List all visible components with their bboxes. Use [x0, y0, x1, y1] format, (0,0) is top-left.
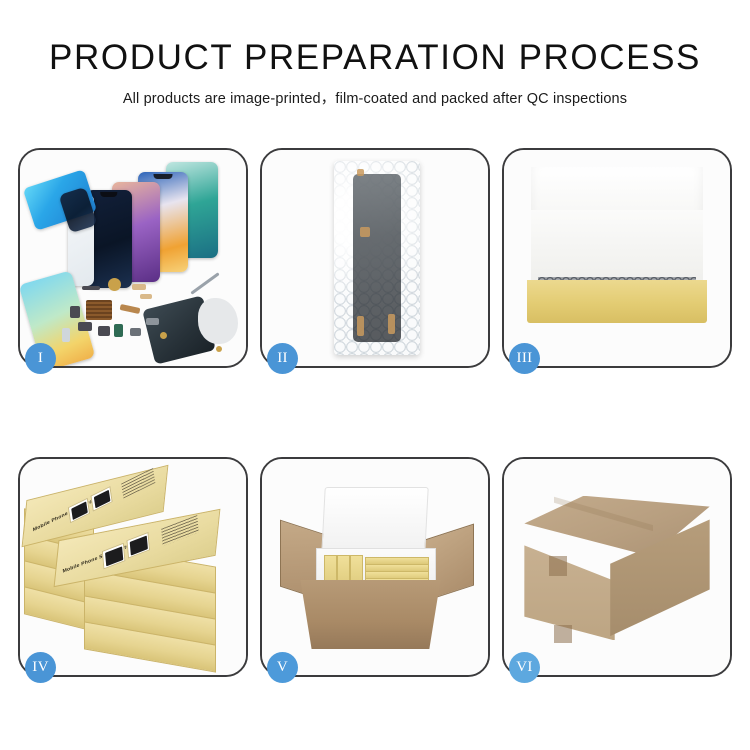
step-image-6	[504, 459, 730, 675]
foam-carton-scene	[262, 459, 488, 675]
part-flex-cable	[140, 294, 152, 299]
stacked-boxes-scene: Mobile Phone Spare Parts Mobile Phone Sp…	[20, 459, 246, 675]
step-badge-2: II	[267, 343, 298, 374]
box-window-image	[102, 543, 126, 570]
box-spec-lines	[121, 468, 155, 499]
step-image-1	[20, 150, 246, 366]
box-window-image	[90, 486, 112, 512]
box-label-text: Mobile Phone Spare Parts	[33, 495, 100, 533]
part-bracket	[70, 306, 80, 318]
part-ribbon	[120, 304, 141, 314]
phone-lineup-scene	[20, 150, 246, 366]
part-camera-ring	[108, 278, 121, 291]
box-lid-face	[531, 210, 703, 283]
part-chip	[78, 322, 92, 331]
box-window-image	[126, 532, 150, 559]
flex-cable-tab	[357, 169, 365, 177]
step-image-5	[262, 459, 488, 675]
step-badge-3: III	[509, 343, 540, 374]
part-speaker	[130, 328, 141, 336]
hand	[198, 298, 238, 344]
step-badge-4: IV	[25, 652, 56, 683]
notch-icon	[154, 174, 173, 179]
page-title: PRODUCT PREPARATION PROCESS	[0, 40, 750, 77]
inner-box-scene	[504, 150, 730, 366]
step-image-2	[262, 150, 488, 366]
bubble-wrap-bag	[334, 161, 420, 355]
flex-cable-tab	[388, 314, 396, 333]
step-badge-6: VI	[509, 652, 540, 683]
step-image-4: Mobile Phone Spare Parts Mobile Phone Sp…	[20, 459, 246, 675]
tweezers-icon	[190, 272, 219, 294]
step-panel-3[interactable]: III	[502, 148, 732, 368]
box-window-image	[68, 498, 90, 524]
part-module	[146, 318, 159, 325]
foam-lid	[321, 487, 428, 554]
part-chip	[98, 326, 110, 336]
page-header: PRODUCT PREPARATION PROCESS All products…	[0, 0, 750, 108]
carton-tape-patch	[554, 625, 572, 642]
step-panel-2[interactable]: II	[260, 148, 490, 368]
step-image-3	[504, 150, 730, 366]
bubble-wrap-scene	[262, 150, 488, 366]
carton-body	[300, 580, 440, 649]
part-mesh-board	[86, 300, 112, 320]
step-panel-6[interactable]: VI	[502, 457, 732, 677]
flex-cable-tab	[360, 227, 369, 237]
step-panel-1[interactable]: I	[18, 148, 248, 368]
yellow-box-base	[527, 280, 708, 323]
sealed-carton-scene	[504, 459, 730, 675]
part-sensor	[114, 324, 123, 337]
carton-left-face	[524, 532, 614, 640]
notch-icon	[100, 192, 117, 197]
box-spec-lines	[161, 515, 199, 546]
step-badge-5: V	[267, 652, 298, 683]
part-battery	[62, 328, 70, 342]
page-subtitle: All products are image-printed，film-coat…	[0, 87, 750, 108]
part-flex-cable	[132, 284, 146, 290]
step-panel-4[interactable]: Mobile Phone Spare Parts Mobile Phone Sp…	[18, 457, 248, 677]
part-screw	[160, 332, 167, 339]
part-screw	[216, 346, 222, 352]
process-grid: I II III	[18, 148, 732, 677]
part-connector	[82, 286, 100, 290]
flex-cable-tab	[357, 316, 365, 335]
step-panel-5[interactable]: V	[260, 457, 490, 677]
carton-tape-patch	[549, 556, 567, 575]
step-badge-1: I	[25, 343, 56, 374]
